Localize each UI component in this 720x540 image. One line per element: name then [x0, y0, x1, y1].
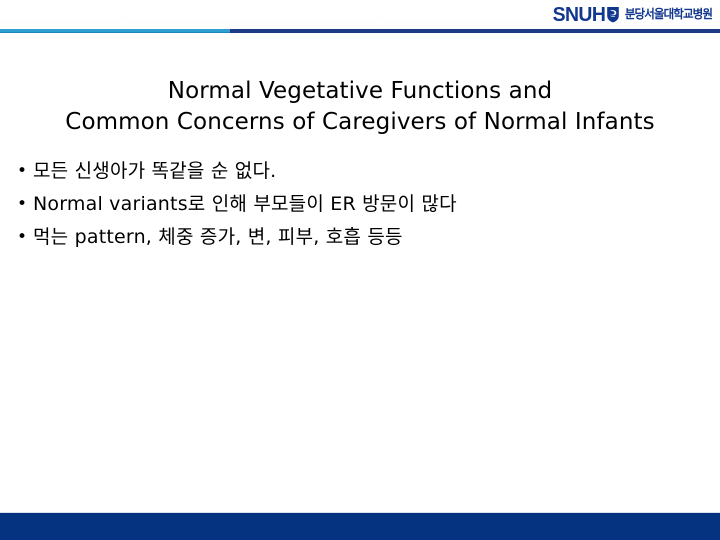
bullet-marker-icon: •	[14, 188, 33, 220]
bullet-marker-icon: •	[14, 155, 33, 187]
header-divider-left-segment	[0, 29, 230, 33]
bullet-item: • Normal variants로 인해 부모들이 ER 방문이 많다	[14, 188, 704, 220]
slide-header: SNUH 분당서울대학교병원	[0, 0, 720, 29]
snuh-logo: SNUH 분당서울대학교병원	[551, 4, 712, 25]
bullet-text: 모든 신생아가 똑같을 순 없다.	[33, 155, 704, 187]
bullet-item: • 먹는 pattern, 체중 증가, 변, 피부, 호흡 등등	[14, 221, 704, 253]
snuh-wordmark: SNUH	[552, 5, 605, 25]
slide-body: • 모든 신생아가 똑같을 순 없다. • Normal variants로 인…	[14, 155, 704, 254]
snuh-korean-name: 분당서울대학교병원	[625, 8, 712, 22]
bullet-text: 먹는 pattern, 체중 증가, 변, 피부, 호흡 등등	[33, 221, 704, 253]
slide-canvas: SNUH 분당서울대학교병원 Normal Vegetative Functio…	[0, 0, 720, 540]
slide-footer-bar	[0, 513, 720, 540]
snuh-shield-emblem-icon	[606, 6, 620, 23]
header-divider	[0, 29, 720, 33]
slide-title-line-1: Normal Vegetative Functions and	[0, 76, 720, 107]
bullet-text: Normal variants로 인해 부모들이 ER 방문이 많다	[33, 188, 704, 220]
footer-top-highlight	[0, 512, 720, 513]
bullet-marker-icon: •	[14, 221, 33, 253]
bullet-item: • 모든 신생아가 똑같을 순 없다.	[14, 155, 704, 187]
slide-title-line-2: Common Concerns of Caregivers of Normal …	[0, 107, 720, 138]
slide-title: Normal Vegetative Functions and Common C…	[0, 76, 720, 138]
header-divider-right-segment	[230, 29, 720, 33]
